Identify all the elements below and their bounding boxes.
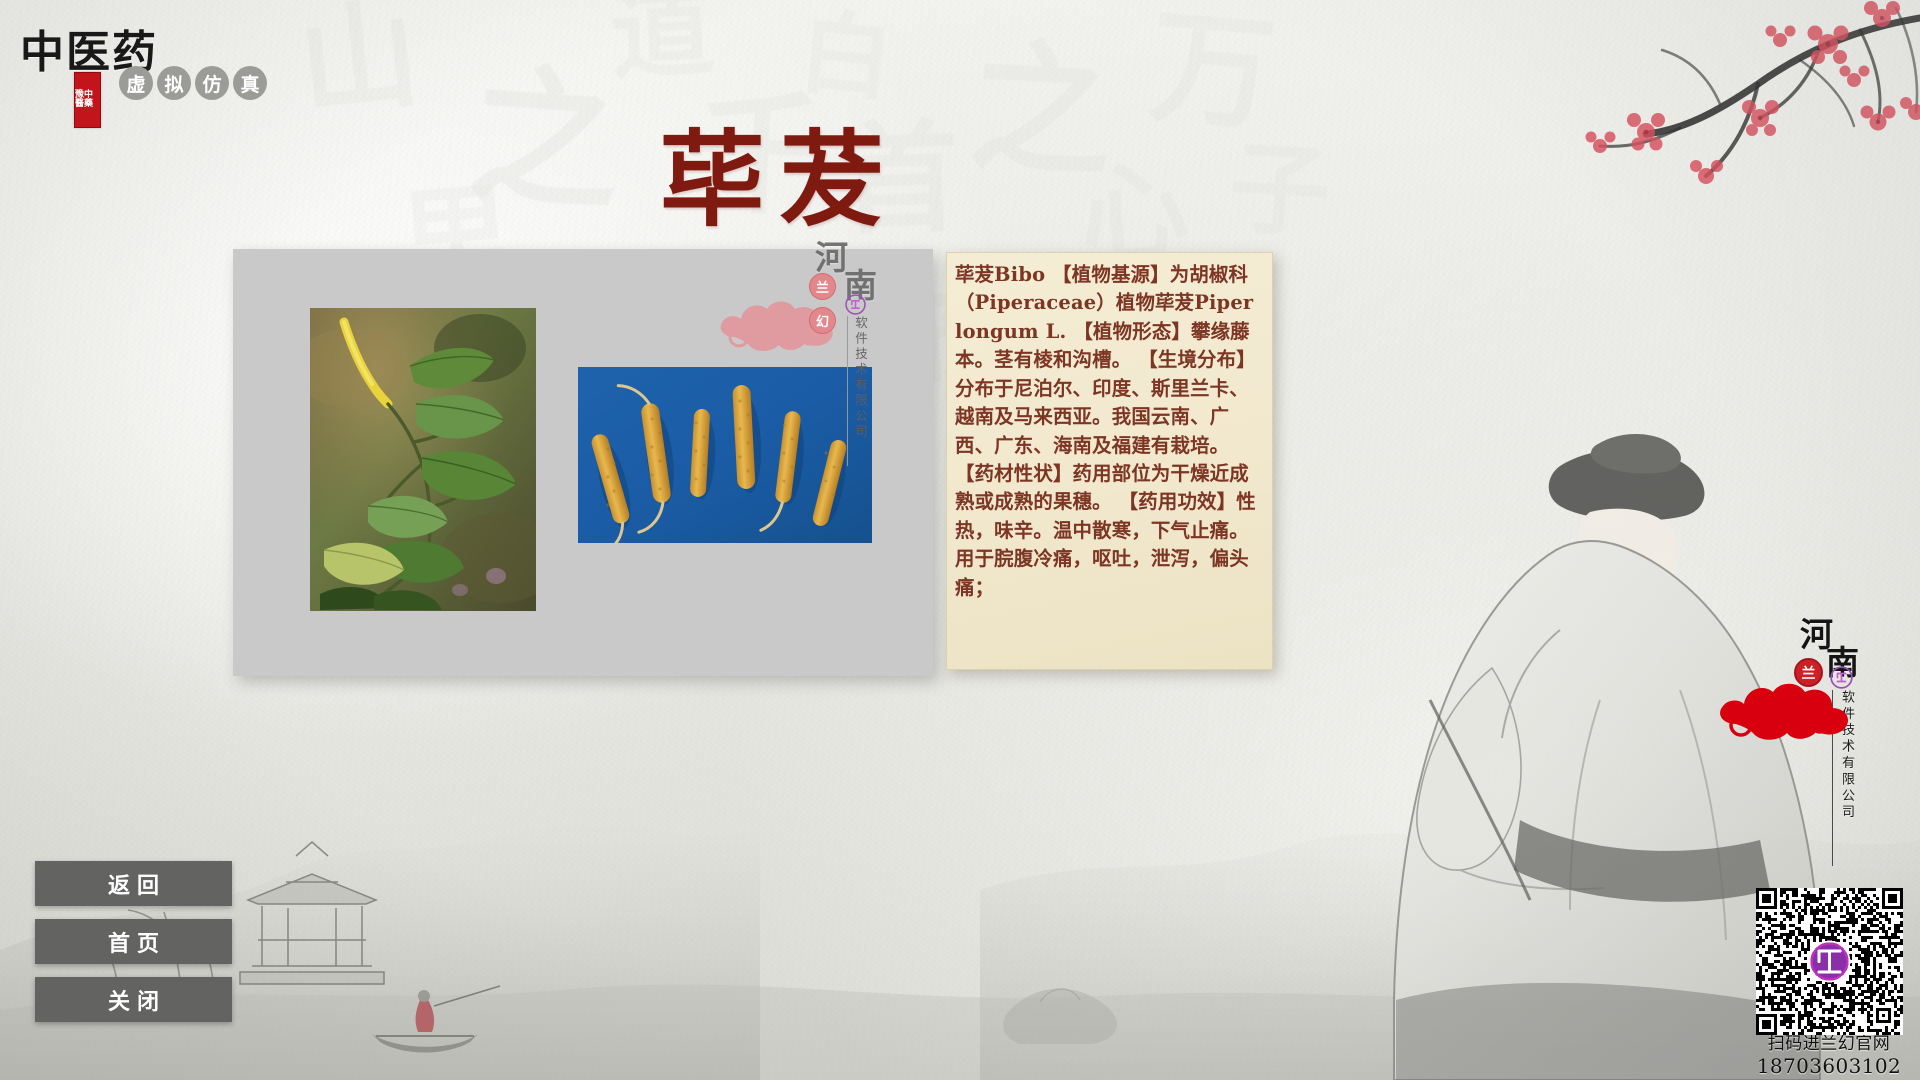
- info-panel[interactable]: 荜茇Bibo 【植物基源】为胡椒科（Piperaceae）植物荜茇Piper l…: [946, 252, 1273, 670]
- back-button[interactable]: 返回: [35, 861, 232, 906]
- brand-subtitle-char-3: 仿: [195, 66, 229, 100]
- brand-subtitle-char-1: 虚: [119, 66, 153, 100]
- brand-subtitle-char-4: 真: [233, 66, 267, 100]
- page-title: 荜茇: [0, 128, 1560, 232]
- right-watermark: 河 南 兰 幻 软件技术有限公司: [1756, 628, 1876, 888]
- qr-code[interactable]: [1756, 888, 1903, 1035]
- close-button[interactable]: 关闭: [35, 977, 232, 1022]
- brand-subtitle-char-2: 拟: [157, 66, 191, 100]
- nav-buttons: 返回 首页 关闭: [35, 861, 232, 1035]
- qr-code-image: [1756, 888, 1903, 1035]
- brand-subtitle: 虚 拟 仿 真: [119, 66, 267, 100]
- qr-block: 扫码进兰幻官网 18703603102: [1740, 888, 1918, 1078]
- qr-caption: 扫码进兰幻官网: [1740, 1035, 1918, 1055]
- home-button[interactable]: 首页: [35, 919, 232, 964]
- specimen-photo[interactable]: [578, 367, 872, 543]
- plant-photo-image: [310, 308, 536, 611]
- qr-phone: 18703603102: [1740, 1055, 1918, 1078]
- brand-seal-icon: 豫中醫藥: [74, 72, 101, 128]
- plant-photo[interactable]: [310, 308, 536, 611]
- info-panel-text: 荜茇Bibo 【植物基源】为胡椒科（Piperaceae）植物荜茇Piper l…: [955, 261, 1266, 602]
- brand-logo[interactable]: 中医药 豫中醫藥 虚 拟 仿 真: [14, 10, 284, 130]
- specimen-photo-image: [578, 367, 872, 543]
- cloud-decoration-icon-right: [1714, 674, 1864, 752]
- content-card: [233, 249, 933, 676]
